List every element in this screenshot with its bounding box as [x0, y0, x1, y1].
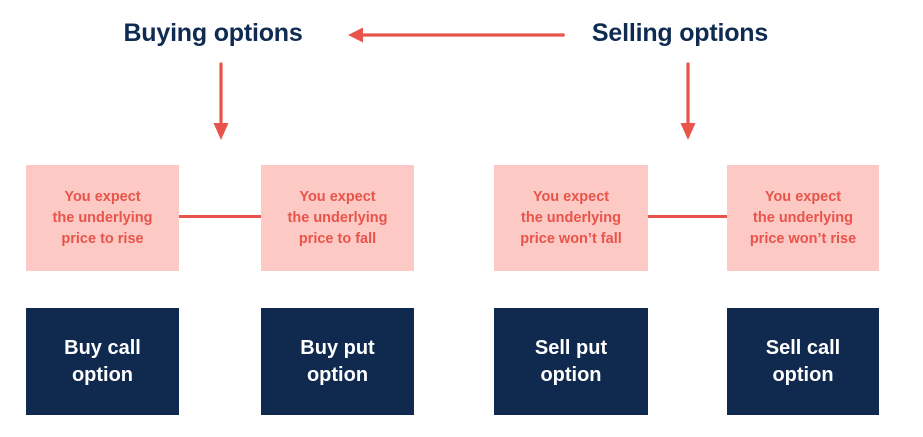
action-line-1: Sell call — [766, 337, 841, 359]
expectation-line-3: price won’t rise — [750, 231, 856, 247]
expectation-box-buy-call: You expect the underlying price to rise — [26, 165, 179, 271]
action-box-buy-put: Buy put option — [261, 308, 414, 415]
expectation-line-2: the underlying — [521, 210, 621, 226]
expectation-line-1: You expect — [765, 189, 841, 205]
action-line-2: option — [72, 364, 133, 386]
arrow-left-icon — [344, 22, 570, 48]
expectation-line-3: price to rise — [61, 231, 143, 247]
action-box-sell-call: Sell call option — [727, 308, 879, 415]
action-line-2: option — [307, 364, 368, 386]
action-line-1: Sell put — [535, 337, 607, 359]
heading-buying-options: Buying options — [78, 17, 348, 49]
connector-buy-pair — [179, 215, 261, 218]
action-box-buy-call: Buy call option — [26, 308, 179, 415]
expectation-line-2: the underlying — [753, 210, 853, 226]
heading-selling-options: Selling options — [545, 17, 815, 49]
expectation-line-3: price to fall — [299, 231, 376, 247]
expectation-line-2: the underlying — [288, 210, 388, 226]
expectation-line-1: You expect — [533, 189, 609, 205]
expectation-box-buy-put: You expect the underlying price to fall — [261, 165, 414, 271]
action-line-1: Buy put — [300, 337, 374, 359]
action-line-2: option — [772, 364, 833, 386]
expectation-line-3: price won’t fall — [520, 231, 622, 247]
expectation-box-sell-put: You expect the underlying price won’t fa… — [494, 165, 648, 271]
expectation-box-sell-call: You expect the underlying price won’t ri… — [727, 165, 879, 271]
options-diagram-canvas: Buying options Selling options You expec… — [0, 0, 923, 437]
expectation-line-1: You expect — [299, 189, 375, 205]
expectation-line-1: You expect — [64, 189, 140, 205]
action-box-sell-put: Sell put option — [494, 308, 648, 415]
action-line-2: option — [540, 364, 601, 386]
arrow-down-icon-selling — [675, 62, 701, 142]
expectation-line-2: the underlying — [53, 210, 153, 226]
connector-sell-pair — [648, 215, 727, 218]
arrow-down-icon-buying — [208, 62, 234, 142]
action-line-1: Buy call — [64, 337, 141, 359]
